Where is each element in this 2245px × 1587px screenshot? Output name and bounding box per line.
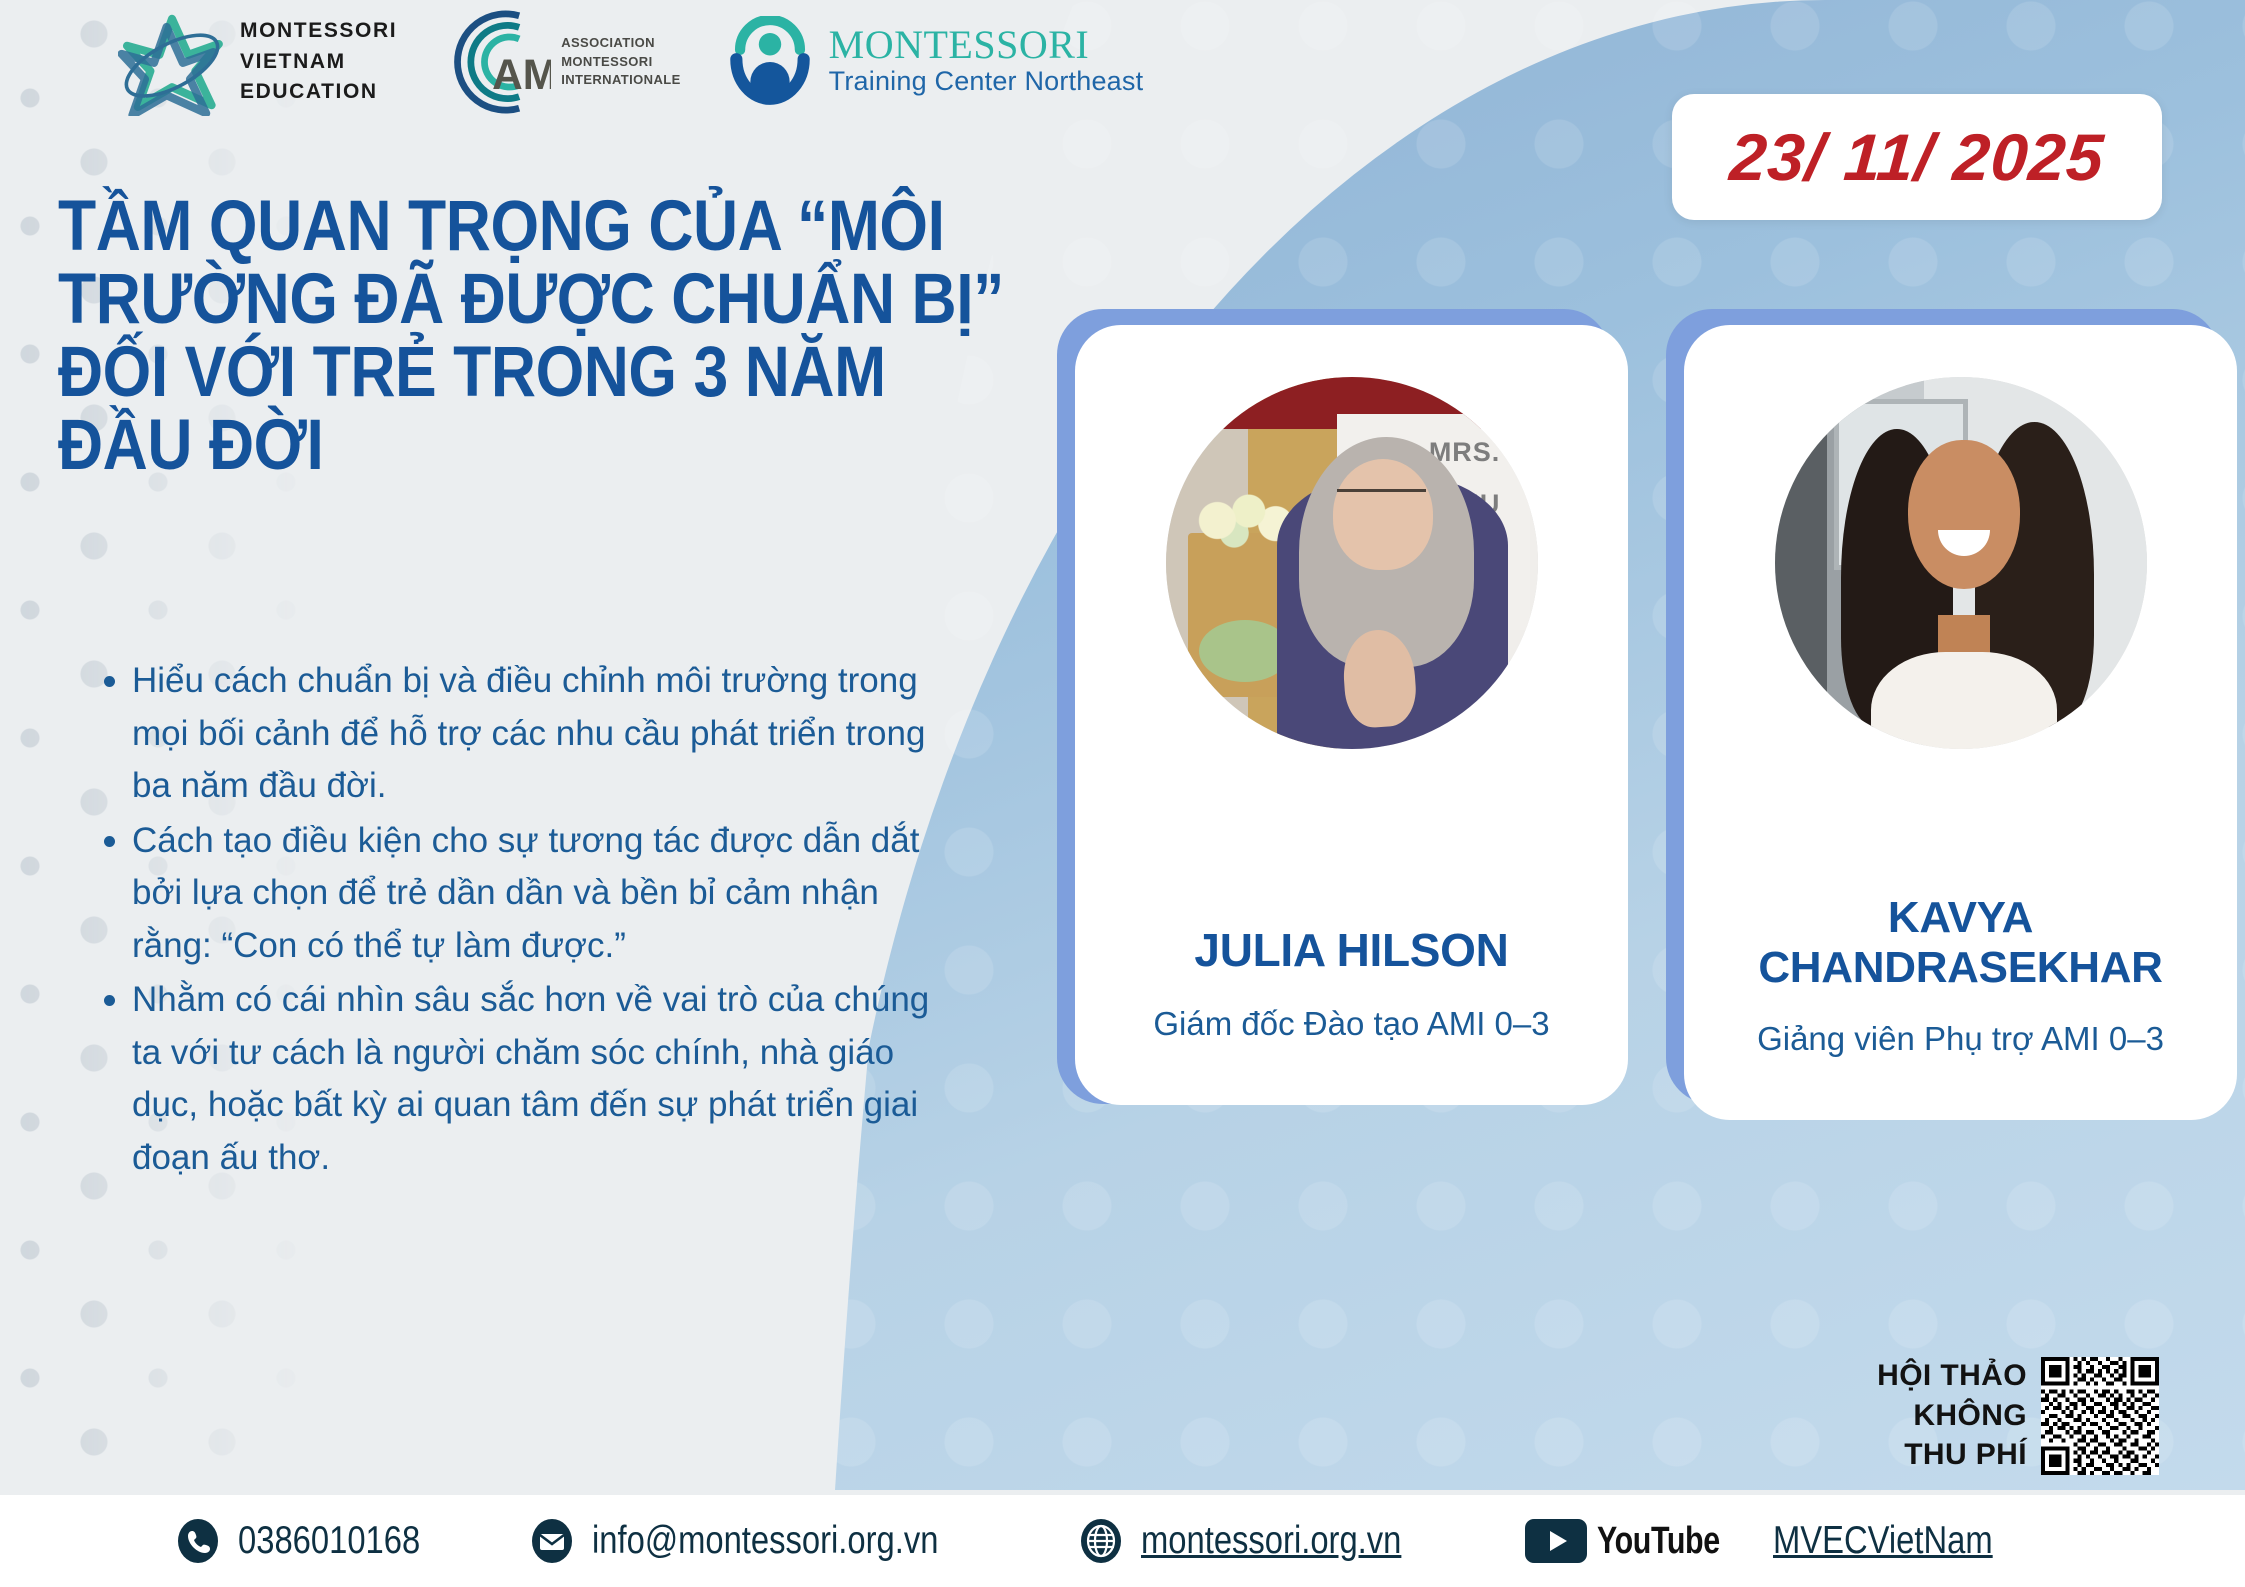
- qr-code-icon[interactable]: [2041, 1357, 2159, 1475]
- ami-wordmark: ASSOCIATION MONTESSORI INTERNATIONALE: [561, 34, 680, 89]
- mail-icon: [529, 1518, 575, 1564]
- globe-icon: [1078, 1518, 1124, 1564]
- list-item: Hiểu cách chuẩn bị và điều chỉnh môi trư…: [98, 655, 948, 813]
- speaker-card-julia-hilson[interactable]: MRS. JU HILSO JULIA HILSON Giám đốc: [1075, 325, 1628, 1120]
- ami-word-1: ASSOCIATION: [561, 34, 680, 52]
- ami-word-2: MONTESSORI: [561, 53, 680, 71]
- speaker-name: KAVYA CHANDRASEKHAR: [1684, 893, 2237, 992]
- ami-rings-icon: AMI: [443, 10, 551, 114]
- free-workshop-label: HỘI THẢO KHÔNG THU PHÍ: [1877, 1356, 2027, 1475]
- tcne-title: MONTESSORI: [829, 25, 1144, 65]
- website-url[interactable]: montessori.org.vn: [1141, 1519, 1401, 1563]
- poster-canvas: MONTESSORI VIETNAM EDUCATION AMI ASSOCIA…: [0, 0, 2245, 1587]
- free-workshop-qr-block[interactable]: HỘI THẢO KHÔNG THU PHÍ: [1877, 1356, 2159, 1475]
- ami-word-3: INTERNATIONALE: [561, 71, 680, 89]
- title-line-4: ĐẦU ĐỜI: [58, 409, 956, 482]
- logo-training-center-northeast: MONTESSORI Training Center Northeast: [727, 16, 1144, 108]
- title-line-3: ĐỐI VỚI TRẺ TRONG 3 NĂM: [58, 336, 956, 409]
- speaker-role: Giám đốc Đào tạo AMI 0–3: [1153, 1005, 1549, 1043]
- svg-text:AMI: AMI: [492, 51, 551, 98]
- youtube-wordmark: YouTube: [1597, 1520, 1720, 1563]
- qr-label-line-3: THU PHÍ: [1877, 1435, 2027, 1475]
- speaker-photo-kavya-chandrasekhar: [1775, 377, 2147, 749]
- tcne-subtitle: Training Center Northeast: [829, 65, 1144, 99]
- title-line-2: TRƯỜNG ĐÃ ĐƯỢC CHUẨN BỊ”: [58, 263, 956, 336]
- list-item: Cách tạo điều kiện cho sự tương tác được…: [98, 815, 948, 973]
- event-date-text: 23/ 11/ 2025: [1727, 119, 2106, 195]
- contact-youtube[interactable]: YouTube MVECVietNam: [1525, 1519, 2034, 1563]
- phone-icon: [175, 1518, 221, 1564]
- contact-website[interactable]: montessori.org.vn: [1078, 1518, 1451, 1564]
- youtube-play-icon: [1525, 1519, 1587, 1563]
- logo-ami: AMI ASSOCIATION MONTESSORI INTERNATIONAL…: [443, 10, 680, 114]
- speaker-role: Giảng viên Phụ trợ AMI 0–3: [1757, 1020, 2164, 1058]
- phone-number: 0386010168: [238, 1519, 420, 1563]
- mve-star-icon: [118, 8, 226, 116]
- list-item: Nhằm có cái nhìn sâu sắc hơn về vai trò …: [98, 974, 948, 1184]
- tcne-figure-icon: [727, 16, 813, 108]
- mve-line-3: EDUCATION: [240, 77, 397, 107]
- event-date-badge: 23/ 11/ 2025: [1672, 94, 2162, 220]
- title-line-1: TẦM QUAN TRỌNG CỦA “MÔI: [58, 190, 956, 263]
- mve-line-1: MONTESSORI: [240, 16, 397, 46]
- mve-line-2: VIETNAM: [240, 47, 397, 77]
- logo-montessori-vietnam-education: MONTESSORI VIETNAM EDUCATION: [118, 8, 397, 116]
- page-title: TẦM QUAN TRỌNG CỦA “MÔI TRƯỜNG ĐÃ ĐƯỢC C…: [58, 190, 956, 483]
- speaker-photo-julia-hilson: MRS. JU HILSO: [1166, 377, 1538, 749]
- speaker-name: JULIA HILSON: [1194, 925, 1508, 977]
- speaker-card-list: MRS. JU HILSO JULIA HILSON Giám đốc: [1075, 325, 2237, 1120]
- contact-email[interactable]: info@montessori.org.vn: [529, 1518, 1004, 1564]
- youtube-channel-name[interactable]: MVECVietNam: [1773, 1519, 1993, 1563]
- speaker-card-kavya-chandrasekhar[interactable]: KAVYA CHANDRASEKHAR Giảng viên Phụ trợ A…: [1684, 325, 2237, 1120]
- contact-phone[interactable]: 0386010168: [175, 1518, 455, 1564]
- qr-label-line-1: HỘI THẢO: [1877, 1356, 2027, 1396]
- logo-row: MONTESSORI VIETNAM EDUCATION AMI ASSOCIA…: [118, 8, 1143, 116]
- contact-footer: 0386010168 info@montessori.org.vn montes…: [0, 1495, 2245, 1587]
- learning-outcomes-list: Hiểu cách chuẩn bị và điều chỉnh môi trư…: [98, 655, 948, 1186]
- qr-label-line-2: KHÔNG: [1877, 1396, 2027, 1436]
- email-address: info@montessori.org.vn: [592, 1519, 938, 1563]
- mve-wordmark: MONTESSORI VIETNAM EDUCATION: [240, 16, 397, 107]
